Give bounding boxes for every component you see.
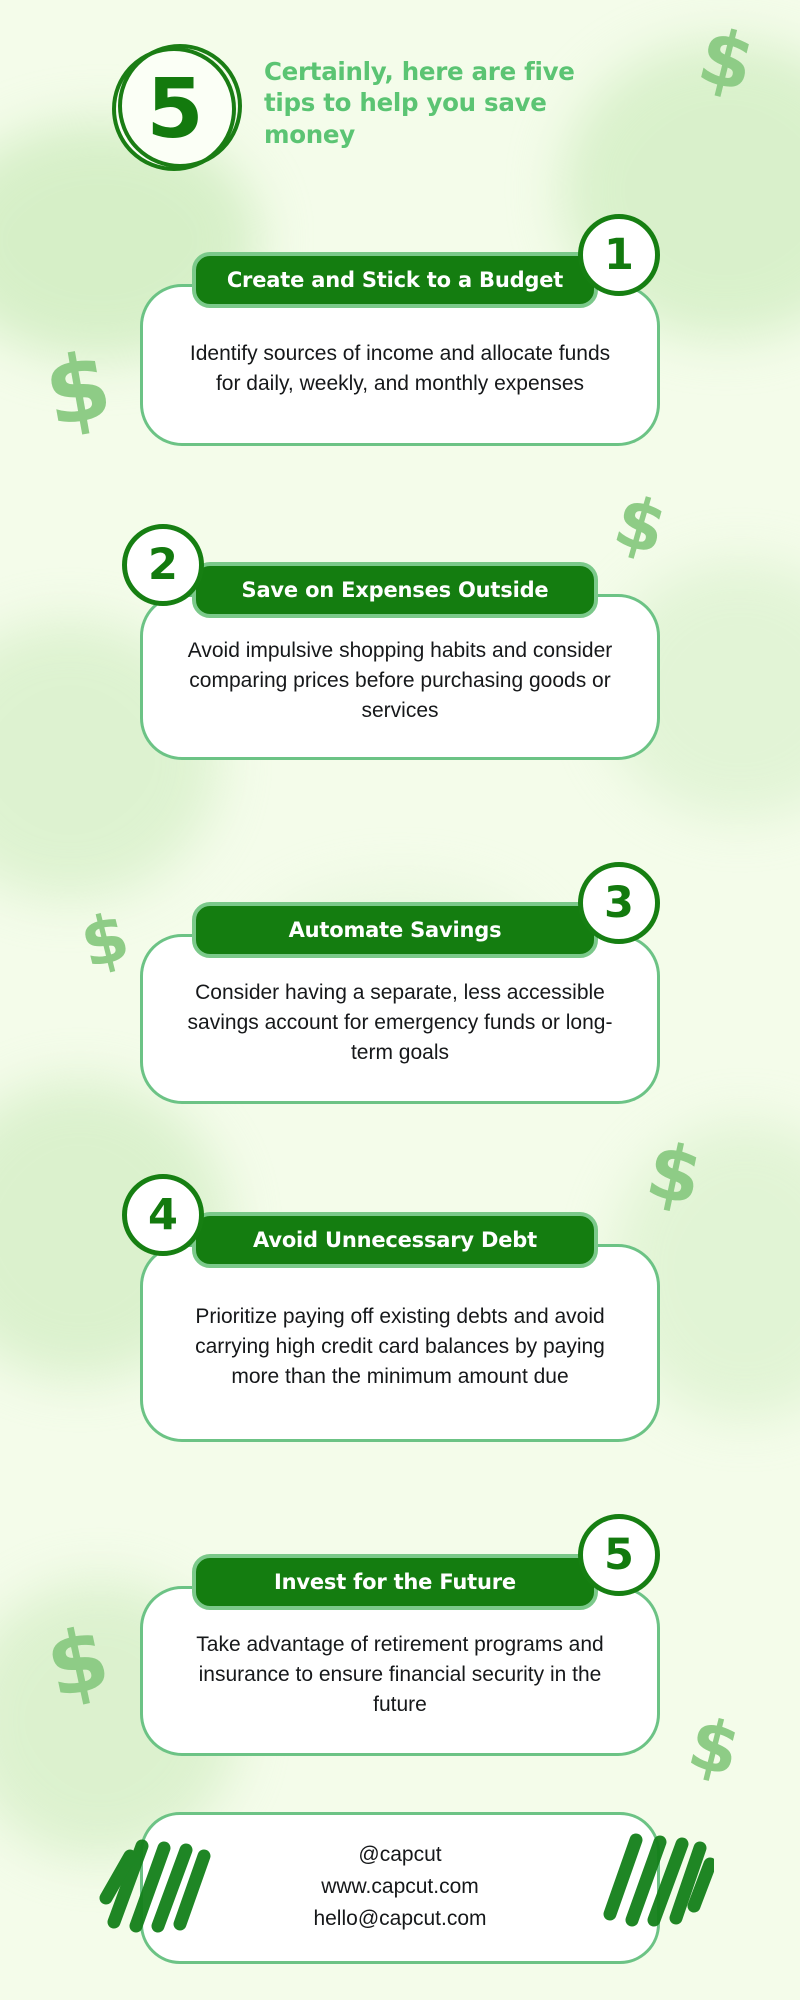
header: 5 Certainly, here are five tips to help …: [0, 40, 800, 205]
tip-body-3: Consider having a separate, less accessi…: [140, 934, 660, 1104]
tip-number-badge-3: 3: [578, 862, 660, 944]
page-title: Certainly, here are five tips to help yo…: [264, 56, 594, 150]
header-number: 5: [112, 47, 236, 171]
tip-title-5[interactable]: Invest for the Future: [192, 1554, 598, 1610]
tip-body-4: Prioritize paying off existing debts and…: [140, 1244, 660, 1442]
tip-title-4[interactable]: Avoid Unnecessary Debt: [192, 1212, 598, 1268]
tip-title-3[interactable]: Automate Savings: [192, 902, 598, 958]
footer-email[interactable]: hello@capcut.com: [163, 1903, 637, 1935]
tip-number-badge-4: 4: [122, 1174, 204, 1256]
tip-text-5: Take advantage of retirement programs an…: [177, 1630, 623, 1719]
footer-website[interactable]: www.capcut.com: [163, 1871, 637, 1903]
tip-title-1[interactable]: Create and Stick to a Budget: [192, 252, 598, 308]
tip-number-badge-5: 5: [578, 1514, 660, 1596]
tip-text-2: Avoid impulsive shopping habits and cons…: [177, 636, 623, 725]
tip-title-2[interactable]: Save on Expenses Outside: [192, 562, 598, 618]
tip-body-5: Take advantage of retirement programs an…: [140, 1586, 660, 1756]
tip-text-1: Identify sources of income and allocate …: [177, 339, 623, 399]
tip-text-3: Consider having a separate, less accessi…: [177, 978, 623, 1067]
header-number-badge: 5: [112, 44, 242, 174]
tip-text-4: Prioritize paying off existing debts and…: [177, 1302, 623, 1391]
tip-number-badge-1: 1: [578, 214, 660, 296]
tip-body-2: Avoid impulsive shopping habits and cons…: [140, 594, 660, 760]
infographic-page: 5 Certainly, here are five tips to help …: [0, 0, 800, 2000]
tip-body-1: Identify sources of income and allocate …: [140, 284, 660, 446]
footer-handle[interactable]: @capcut: [163, 1839, 637, 1871]
tip-number-badge-2: 2: [122, 524, 204, 606]
footer-contact-card: @capcut www.capcut.com hello@capcut.com: [140, 1812, 660, 1964]
